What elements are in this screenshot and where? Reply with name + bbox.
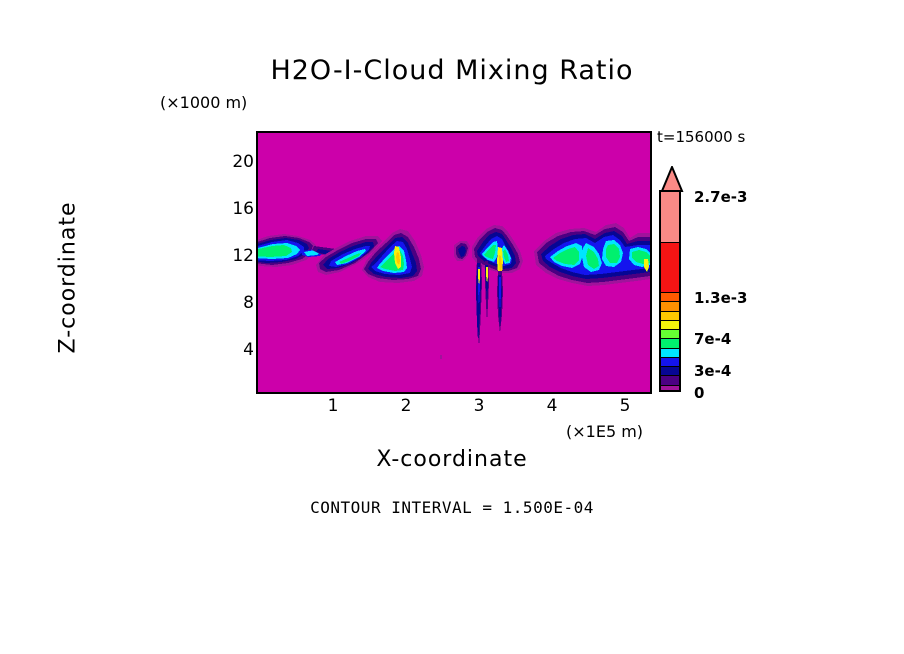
time-label: t=156000 s — [657, 128, 745, 146]
colorbar-arrow-tip — [659, 166, 685, 192]
colorbar-segment — [661, 339, 679, 348]
x-tick-label: 5 — [610, 396, 640, 416]
x-axis-title: X-coordinate — [0, 447, 904, 472]
colorbar-segment — [661, 243, 679, 294]
colorbar-label: 1.3e-3 — [694, 289, 747, 307]
x-tick-label: 1 — [318, 396, 348, 416]
colorbar-segment — [661, 349, 679, 358]
colorbar-label: 3e-4 — [694, 362, 731, 380]
colorbar-label: 7e-4 — [694, 330, 731, 348]
colorbar-segment — [661, 302, 679, 311]
colorbar-segment — [661, 312, 679, 321]
x-tick-label: 3 — [464, 396, 494, 416]
y-tick-label: 16 — [220, 199, 254, 219]
chart-title: H2O-I-Cloud Mixing Ratio — [0, 55, 904, 86]
colorbar-segment — [661, 386, 679, 393]
x-tick-label: 2 — [391, 396, 421, 416]
colorbar[interactable] — [659, 166, 685, 394]
colorbar-segment — [661, 192, 679, 243]
y-tick-label: 4 — [220, 340, 254, 360]
colorbar-label: 2.7e-3 — [694, 188, 747, 206]
y-tick-label: 8 — [220, 293, 254, 313]
y-axis-unit-label: (×1000 m) — [160, 93, 247, 112]
y-tick-label: 20 — [220, 152, 254, 172]
colorbar-segment — [661, 358, 679, 367]
colorbar-segment — [661, 293, 679, 302]
x-tick-label: 4 — [537, 396, 567, 416]
colorbar-segments[interactable] — [659, 190, 681, 392]
colorbar-segment — [661, 330, 679, 339]
colorbar-segment — [661, 376, 679, 385]
colorbar-segment — [661, 367, 679, 376]
y-axis-title: Z-coordinate — [56, 158, 81, 398]
x-axis-unit-label: (×1E5 m) — [566, 422, 643, 441]
contour-interval-note: CONTOUR INTERVAL = 1.500E-04 — [0, 498, 904, 517]
colorbar-label: 0 — [694, 384, 704, 402]
colorbar-segment — [661, 321, 679, 330]
y-tick-label: 12 — [220, 246, 254, 266]
contour-plot-panel[interactable] — [256, 131, 652, 394]
